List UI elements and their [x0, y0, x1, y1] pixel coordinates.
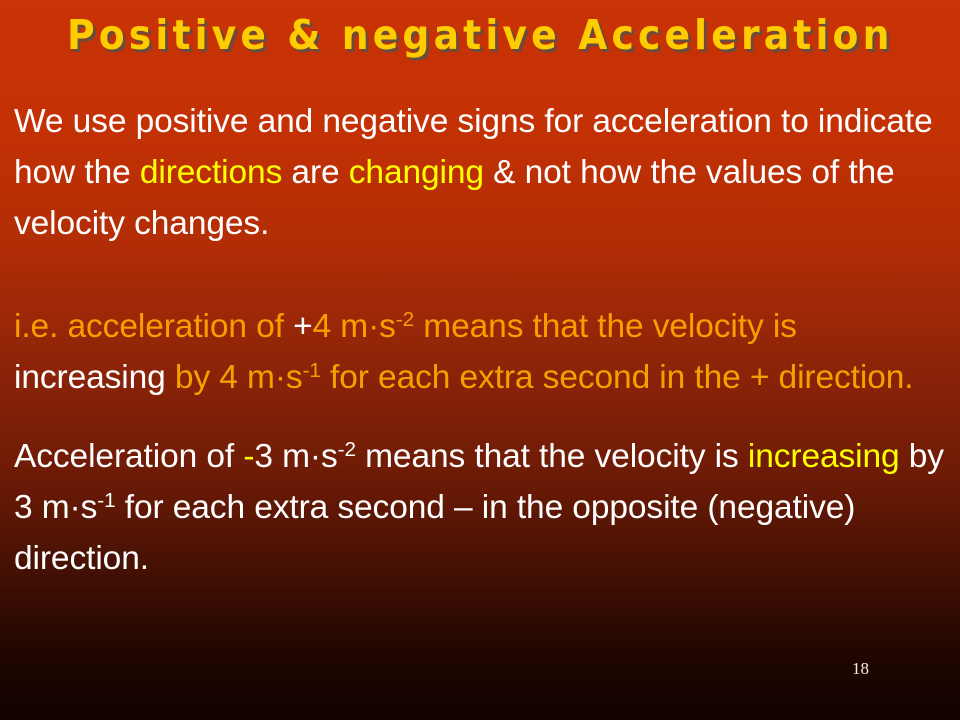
- text-run: means that the velocity is: [356, 438, 748, 475]
- title-bar: Positive & negative Acceleration: [0, 6, 960, 64]
- presentation-slide: Positive & negative Acceleration We use …: [0, 0, 960, 720]
- unit-exponent: -1: [303, 359, 321, 382]
- page-title: Positive & negative Acceleration: [67, 6, 894, 64]
- slide-body: We use positive and negative signs for a…: [14, 96, 948, 584]
- text-run: are: [282, 154, 349, 191]
- unit-exponent: -2: [396, 308, 414, 331]
- text-run: for each extra second in the + direction…: [321, 359, 914, 396]
- minus-sign: -: [243, 438, 254, 475]
- keyword-directions: directions: [140, 154, 282, 191]
- keyword-changing: changing: [349, 154, 484, 191]
- keyword-increasing: increasing: [14, 359, 166, 396]
- text-run: Acceleration of: [14, 438, 243, 475]
- paragraph-intro: We use positive and negative signs for a…: [14, 96, 948, 249]
- paragraph-positive-example: i.e. acceleration of +4 m·s-2 means that…: [14, 301, 948, 403]
- text-run: i.e. acceleration of: [14, 308, 293, 345]
- paragraph-spacer: [14, 403, 948, 431]
- unit-exponent: -1: [97, 489, 115, 512]
- paragraph-negative-example: Acceleration of -3 m·s-2 means that the …: [14, 431, 948, 584]
- paragraph-spacer: [14, 249, 948, 301]
- text-run: for each extra second – in the opposite …: [14, 489, 865, 577]
- unit-exponent: -2: [338, 438, 356, 461]
- text-run: 4 m·s: [313, 308, 396, 345]
- text-run: 3 m·s: [254, 438, 337, 475]
- plus-sign: +: [293, 308, 312, 345]
- text-run: means that the velocity is: [414, 308, 806, 345]
- keyword-increasing: increasing: [748, 438, 900, 475]
- slide-number: 18: [852, 659, 869, 679]
- text-run: by 4 m·s: [166, 359, 303, 396]
